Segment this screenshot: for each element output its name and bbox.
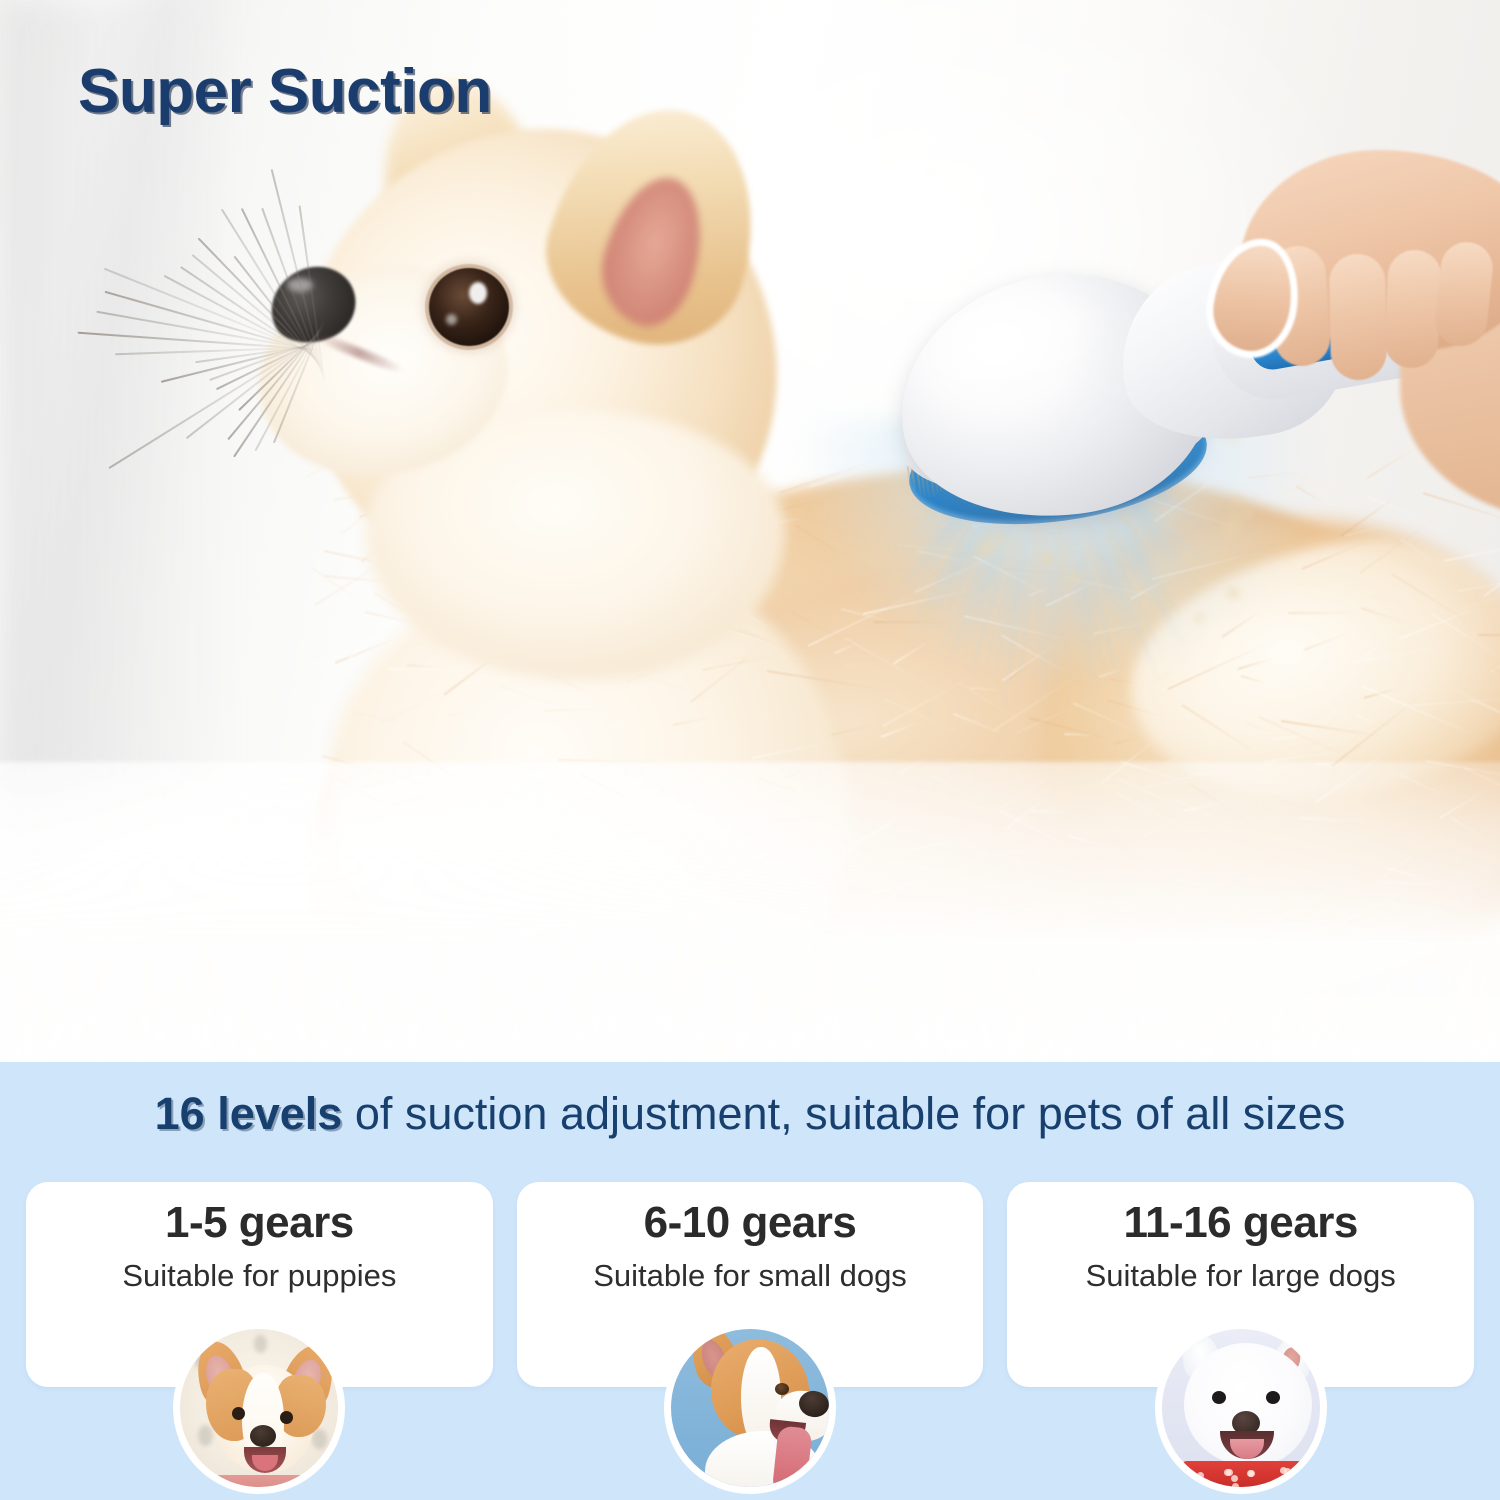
- gear-card-subtitle: Suitable for large dogs: [1007, 1258, 1474, 1294]
- banner-heading-strong: 16 levels: [155, 1088, 343, 1139]
- corgi-dog-photo: [664, 1322, 836, 1494]
- gear-card-title: 6-10 gears: [517, 1198, 984, 1248]
- gear-card-6-10[interactable]: 6-10 gears Suitable for small dogs: [517, 1182, 984, 1387]
- gear-card-1-5[interactable]: 1-5 gears Suitable for puppies: [26, 1182, 493, 1387]
- product-feature-image: Super Suction 16 levels of suction adjus…: [0, 0, 1500, 1500]
- human-hand: [1180, 150, 1500, 450]
- hand-finger-ring: [1383, 249, 1443, 370]
- hero-photo: Super Suction: [0, 0, 1500, 1062]
- banner-heading: 16 levels of suction adjustment, suitabl…: [0, 1088, 1500, 1140]
- dog-whiskers: [215, 110, 825, 630]
- grooming-brush-device: [880, 230, 1500, 600]
- corgi-puppy-photo: [173, 1322, 345, 1494]
- page-title: Super Suction: [78, 56, 492, 127]
- gear-card-title: 1-5 gears: [26, 1198, 493, 1248]
- white-samoyed-photo: [1155, 1322, 1327, 1494]
- carpet-fluff-strands: [0, 872, 1500, 1062]
- gear-card-title: 11-16 gears: [1007, 1198, 1474, 1248]
- banner-heading-rest: of suction adjustment, suitable for pets…: [342, 1088, 1345, 1139]
- hand-finger-middle: [1329, 254, 1387, 381]
- gear-card-subtitle: Suitable for puppies: [26, 1258, 493, 1294]
- gear-card-subtitle: Suitable for small dogs: [517, 1258, 984, 1294]
- gear-card-11-16[interactable]: 11-16 gears Suitable for large dogs: [1007, 1182, 1474, 1387]
- gear-cards: 1-5 gears Suitable for puppies: [26, 1182, 1474, 1387]
- dog-head: [215, 110, 825, 630]
- feature-banner: 16 levels of suction adjustment, suitabl…: [0, 1062, 1500, 1500]
